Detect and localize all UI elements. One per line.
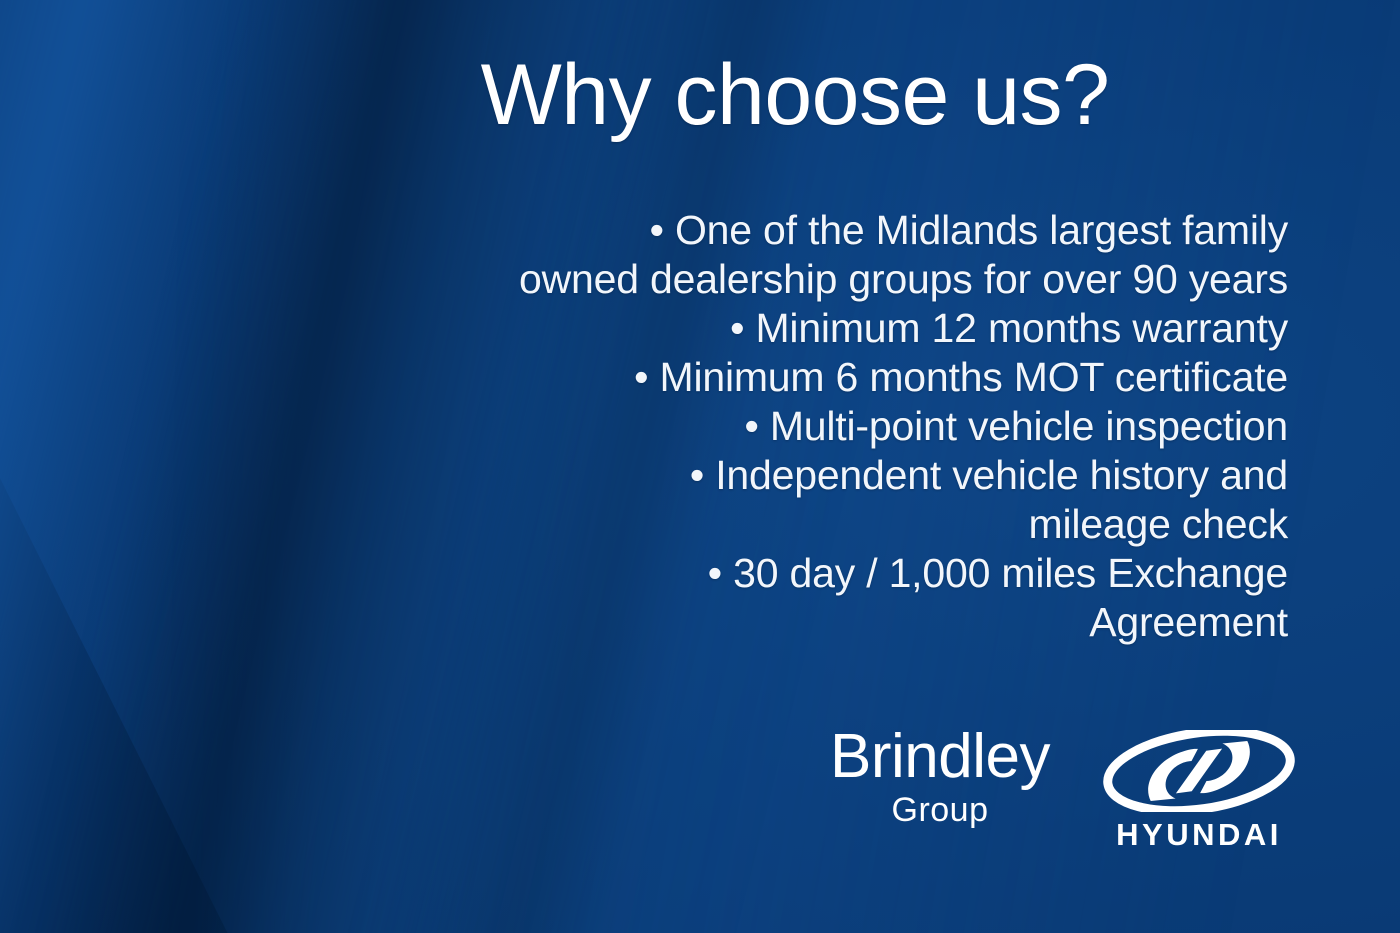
list-item: Agreement	[458, 598, 1288, 647]
list-item: • Independent vehicle history and	[458, 451, 1288, 500]
page-title: Why choose us?	[300, 52, 1290, 138]
brindley-wordmark: Brindley	[790, 726, 1090, 788]
benefits-list: • One of the Midlands largest family own…	[458, 206, 1288, 647]
list-item: • One of the Midlands largest family	[458, 206, 1288, 255]
logo-lockup: Brindley Group HYUNDAI	[790, 726, 1310, 866]
hyundai-logo: HYUNDAI	[1096, 730, 1302, 852]
list-item: mileage check	[458, 500, 1288, 549]
list-item: • Minimum 12 months warranty	[458, 304, 1288, 353]
list-item: • 30 day / 1,000 miles Exchange	[458, 549, 1288, 598]
brindley-group-logo: Brindley Group	[790, 726, 1090, 828]
list-item: owned dealership groups for over 90 year…	[458, 255, 1288, 304]
hyundai-ellipse-h-icon	[1101, 730, 1297, 812]
list-item: • Multi-point vehicle inspection	[458, 402, 1288, 451]
slide-content: Why choose us? • One of the Midlands lar…	[0, 0, 1400, 933]
promo-slide: Why choose us? • One of the Midlands lar…	[0, 0, 1400, 933]
brindley-group-subtitle: Group	[790, 792, 1090, 828]
hyundai-wordmark: HYUNDAI	[1096, 818, 1302, 852]
list-item: • Minimum 6 months MOT certificate	[458, 353, 1288, 402]
